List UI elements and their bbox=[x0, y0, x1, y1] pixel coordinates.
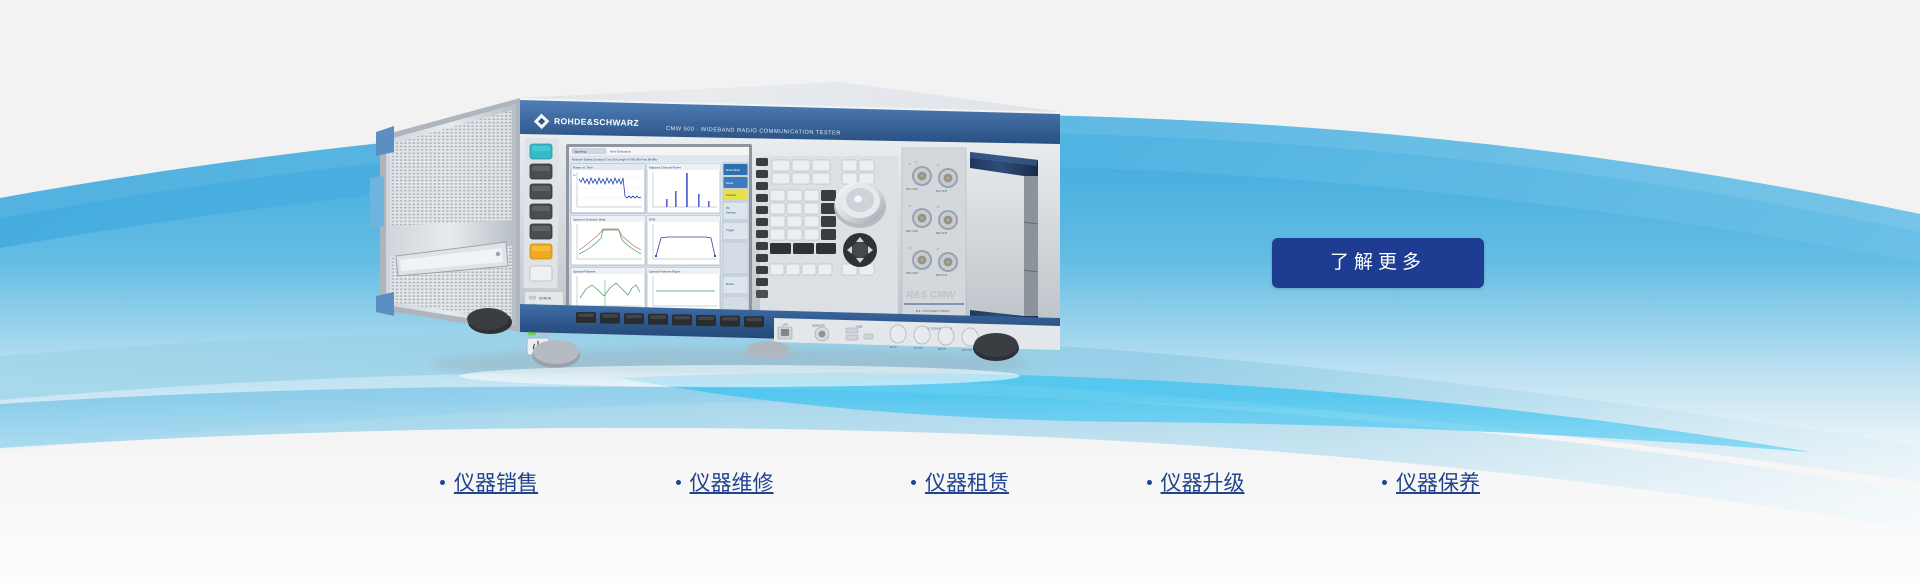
device-rotary-knob bbox=[834, 182, 886, 228]
svg-text:Settings: Settings bbox=[726, 210, 736, 214]
svg-text:ROHDE&SCHWARZ: ROHDE&SCHWARZ bbox=[554, 116, 639, 128]
svg-text:Signaling: Signaling bbox=[574, 149, 587, 153]
svg-text:RF CONNECTORS: RF CONNECTORS bbox=[916, 309, 950, 313]
device-left-key-column bbox=[523, 138, 559, 288]
display-chart-spectral-flatness-ripple: Spectral Flatness Ripple bbox=[647, 268, 720, 312]
svg-text:Measure Statistic Duration: Measure Statistic Duration 5 ms Slot Len… bbox=[572, 157, 658, 161]
device-key-help bbox=[530, 244, 552, 259]
display-chart-spectral-flatness: Spectral Flatness bbox=[571, 268, 645, 312]
svg-text:R1 IN: R1 IN bbox=[890, 346, 897, 349]
svg-text:Adjacent Channel Power: Adjacent Channel Power bbox=[649, 165, 681, 169]
service-label: 仪器销售 bbox=[454, 467, 538, 497]
svg-text:Marker: Marker bbox=[726, 282, 734, 286]
service-label: 仪器租赁 bbox=[925, 467, 1009, 497]
svg-text:ERROR: ERROR bbox=[539, 296, 552, 300]
svg-text:RF1 OUT: RF1 OUT bbox=[962, 349, 973, 352]
svg-text:RF2 COM: RF2 COM bbox=[906, 229, 918, 233]
bullet-icon bbox=[911, 480, 916, 485]
svg-text:Spectral Flatness Ripple: Spectral Flatness Ripple bbox=[649, 269, 681, 273]
device-display: Signaling Multi Evaluation Measure Stati… bbox=[566, 144, 752, 330]
service-label: 仪器维修 bbox=[690, 467, 774, 497]
svg-text:R1 OUT: R1 OUT bbox=[914, 347, 924, 350]
svg-text:R&S CMW: R&S CMW bbox=[906, 290, 956, 301]
svg-text:RF3 OUT: RF3 OUT bbox=[936, 273, 948, 277]
svg-text:RF3 COM: RF3 COM bbox=[906, 271, 918, 275]
bullet-icon bbox=[440, 480, 445, 485]
device-key-sys bbox=[530, 266, 552, 281]
device-navigation-dpad bbox=[843, 233, 877, 267]
service-links-row: 仪器销售 仪器维修 仪器租赁 仪器升级 仪器保养 bbox=[440, 462, 1480, 502]
device-keypad-block bbox=[756, 156, 898, 318]
service-link-rental[interactable]: 仪器租赁 bbox=[911, 467, 1009, 497]
svg-text:EVM: EVM bbox=[649, 217, 656, 221]
device-rf-connector-panel: RF1 COM RF1 OUT RF2 COM bbox=[902, 148, 966, 318]
learn-more-button[interactable]: 了解更多 bbox=[1272, 238, 1484, 288]
device-key-print bbox=[530, 164, 552, 179]
svg-text:Trigger: Trigger bbox=[726, 228, 735, 232]
service-link-upgrade[interactable]: 仪器升级 bbox=[1147, 467, 1245, 497]
service-label: 仪器保养 bbox=[1396, 467, 1480, 497]
svg-text:RF2 OUT: RF2 OUT bbox=[936, 231, 948, 235]
instrument-photo-cmw500: ROHDE&SCHWARZ CMW 500 · WIDEBAND RADIO C… bbox=[370, 60, 1090, 390]
display-chart-spectrum-emission-mask: Spectrum Emission Mask bbox=[571, 216, 645, 265]
service-link-sales[interactable]: 仪器销售 bbox=[440, 467, 538, 497]
display-chart-adjacent-channel-power: Adjacent Channel Power bbox=[647, 164, 720, 213]
svg-text:RF1 COM: RF1 COM bbox=[906, 187, 918, 191]
service-link-maintenance[interactable]: 仪器保养 bbox=[1382, 467, 1480, 497]
svg-text:RF: RF bbox=[726, 206, 730, 210]
svg-text:LAN: LAN bbox=[782, 323, 788, 327]
svg-text:Spectrum Emission Mask: Spectrum Emission Mask bbox=[573, 217, 606, 221]
device-key-reset bbox=[530, 144, 552, 159]
svg-text:Multi Evaluation: Multi Evaluation bbox=[610, 149, 632, 153]
banner-stage: ROHDE&SCHWARZ CMW 500 · WIDEBAND RADIO C… bbox=[0, 0, 1920, 583]
display-chart-evm: EVM bbox=[647, 216, 720, 265]
display-chart-power-vs-time: Power vs. Time dB bbox=[571, 164, 645, 213]
service-link-repair[interactable]: 仪器维修 bbox=[676, 467, 774, 497]
svg-text:Meas Mode: Meas Mode bbox=[726, 168, 741, 172]
svg-text:Route: Route bbox=[726, 181, 734, 185]
device-key-setup bbox=[530, 204, 552, 219]
bullet-icon bbox=[1382, 480, 1387, 485]
svg-text:RF1 IN: RF1 IN bbox=[938, 348, 946, 351]
device-side-vent-panel bbox=[370, 98, 520, 332]
svg-text:Spectral Flatness: Spectral Flatness bbox=[573, 269, 596, 273]
bullet-icon bbox=[1147, 480, 1152, 485]
device-key-info bbox=[530, 224, 552, 239]
device-key-save-rcl bbox=[530, 184, 552, 199]
svg-text:Power vs. Time: Power vs. Time bbox=[573, 165, 593, 169]
svg-text:Connect: Connect bbox=[726, 193, 736, 197]
svg-text:RF1 OUT: RF1 OUT bbox=[936, 189, 948, 193]
service-label: 仪器升级 bbox=[1161, 467, 1245, 497]
bullet-icon bbox=[676, 480, 681, 485]
